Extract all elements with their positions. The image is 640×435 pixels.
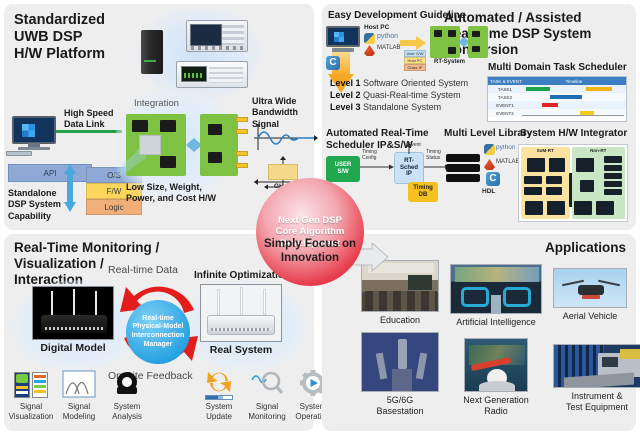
real-system-image — [200, 284, 282, 342]
host-pc-label: Host PC — [364, 24, 389, 31]
app-label-instrument: Instrument & Test Equipment — [566, 391, 628, 412]
timing-config-label: Timing Config — [362, 150, 377, 162]
gantt-label-task2: TASK2 — [488, 93, 522, 101]
panel-a-title: Standardized UWB DSP H/W Platform — [14, 12, 105, 63]
icon-label-signal-modeling: Signal Modeling — [63, 402, 95, 421]
library-python-icon — [484, 144, 495, 155]
icon-label-signal-monitoring: Signal Monitoring — [248, 402, 285, 421]
integrator-nonrt-label: Non-RT — [572, 148, 625, 153]
oscilloscope-screen — [190, 24, 222, 46]
integrator-col-somrt: SoM-RT — [521, 147, 570, 219]
level-1-desc: Software Oriented System — [363, 78, 468, 88]
gantt-bar-task1-b — [586, 87, 612, 91]
app-artificial-intelligence[interactable]: Artificial Intelligence — [448, 264, 544, 328]
library-c-icon: C — [486, 172, 500, 186]
c-language-icon: C — [326, 56, 340, 70]
gantt-row-task1: TASK1 — [488, 85, 626, 93]
gantt-col-time: Timeline — [522, 79, 626, 84]
rt-system-label: RT-System — [434, 59, 465, 65]
easy-development-guideline-title: Easy Development Guideline — [328, 10, 465, 22]
high-speed-data-link-label: High Speed Data Link — [64, 108, 114, 131]
gantt-label-task1: TASK1 — [488, 85, 522, 93]
integrator-col-nonrt: Non-RT — [572, 147, 625, 219]
chart-dashboard-icon — [14, 370, 48, 400]
rt-pcb-left — [430, 26, 460, 58]
radio-image — [464, 338, 528, 392]
library-matlab-icon — [484, 159, 495, 170]
icon-label-system-update: System Update — [206, 402, 233, 421]
level-3-name: Level 3 — [330, 102, 361, 112]
connector-1 — [236, 117, 248, 122]
digital-model-image — [32, 286, 114, 340]
gantt-chart: TASK & EVENT Timeline TASK1 TASK2 EVENT1… — [487, 76, 627, 122]
monitor-screen — [12, 116, 56, 144]
realtime-data-label: Real-time Data — [108, 264, 178, 276]
real-system-caption: Real System — [200, 344, 282, 356]
library-stack-icon — [446, 154, 480, 188]
gantt-axis — [522, 115, 624, 116]
app-label-aerial-vehicle: Aerial Vehicle — [563, 311, 618, 321]
instrument-image — [553, 344, 640, 388]
signal-search-icon — [250, 370, 284, 400]
matlab-label: MATLAB — [377, 45, 401, 51]
curve-plot-icon — [62, 370, 96, 400]
library-matlab-label: MATLAB — [496, 159, 520, 165]
level-1-row: Level 1 Software Oriented System — [330, 78, 468, 88]
gantt-bar-task2 — [550, 95, 582, 99]
level-2-row: Level 2 Quasi-Real-time System — [330, 90, 461, 100]
timing-db-block: Timing DB — [408, 182, 438, 202]
digital-model-caption: Digital Model — [32, 342, 114, 354]
matlab-icon — [364, 45, 375, 56]
library-hdl-label: HDL — [482, 188, 495, 195]
gantt-row-event1: EVENT1 — [488, 101, 626, 109]
python-label: python — [377, 33, 398, 40]
panel-standardized-uwb-dsp: Standardized UWB DSP H/W Platform High S… — [4, 4, 314, 230]
rt-stack-class-ip: Class IP — [404, 64, 426, 71]
oscilloscope-knobs — [191, 46, 245, 50]
magnifier-dark-icon — [110, 370, 144, 400]
integrator-somrt-label: SoM-RT — [521, 148, 570, 153]
rt-stack-host-pc: Host PC — [404, 57, 426, 64]
gantt-row-task2: TASK2 — [488, 93, 626, 101]
icon-label-signal-visualization: Signal Visualization — [9, 402, 54, 421]
level-3-row: Level 3 Standalone System — [330, 102, 441, 112]
hw-integrator-diagram: SoM-RT Non-RT — [518, 144, 628, 222]
standalone-capability-label: Standalone DSP System Capability — [8, 188, 61, 222]
rt-sched-ip-block: RT- Sched IP — [394, 152, 424, 184]
app-label-basestation: 5G/6G Basestation — [376, 395, 423, 416]
gantt-label-event2: EVENT2 — [488, 109, 522, 117]
timing-status-label: Timing Status — [426, 150, 441, 162]
api-box: API — [8, 164, 92, 182]
integration-label: Integration — [134, 98, 179, 109]
guideline-arrow-icon — [400, 36, 426, 50]
analyzer-controls — [209, 67, 243, 83]
high-speed-link-line — [56, 130, 122, 133]
drone-image — [553, 268, 627, 308]
keyboard-icon — [6, 151, 32, 156]
signal-analyzer-icon — [176, 61, 248, 88]
connector-3 — [236, 151, 248, 156]
bidirectional-arrow — [64, 164, 76, 212]
pcb-board-right — [200, 114, 238, 176]
realtime-manager-circle: Real-time Physical-Model Interconnection… — [126, 300, 190, 364]
level-1-name: Level 1 — [330, 78, 361, 88]
icon-signal-modeling[interactable]: Signal Modeling — [56, 370, 102, 421]
auto-scheduler-title: Automated Real-Time Scheduler IP&S/W — [326, 128, 429, 152]
icon-system-update[interactable]: System Update — [196, 370, 242, 421]
connector-4 — [236, 163, 248, 168]
host-pc-icon — [326, 26, 360, 54]
level-2-name: Level 2 — [330, 90, 361, 100]
user-sw-block: USER S/W — [326, 156, 360, 182]
spectrum-band — [268, 164, 298, 180]
analyzer-screen — [181, 66, 207, 82]
level-2-desc: Quasi-Real-time System — [363, 90, 461, 100]
app-aerial-vehicle[interactable]: Aerial Vehicle — [550, 268, 630, 322]
gantt-bar-task1-a — [526, 87, 550, 91]
app-label-ai: Artificial Intelligence — [456, 317, 536, 327]
pcb-zoom-region — [140, 136, 160, 154]
timing-config-arrow — [360, 164, 394, 170]
server-tower-icon — [141, 30, 163, 74]
connector-2 — [236, 129, 248, 134]
gantt-label-event1: EVENT1 — [488, 101, 522, 109]
oscilloscope-icon — [186, 20, 248, 52]
monitor-base — [18, 147, 50, 150]
library-python-label: python — [496, 144, 516, 151]
rt-pcb-right — [468, 26, 488, 58]
simply-focus-text: Simply Focus on Innovation — [248, 238, 372, 266]
refresh-icon — [202, 370, 236, 400]
icon-signal-monitoring[interactable]: Signal Monitoring — [244, 370, 290, 421]
low-size-weight-label: Low Size, Weight, Power, and Cost H/W — [126, 182, 216, 205]
icon-signal-visualization[interactable]: Signal Visualization — [8, 370, 54, 421]
icon-system-analysis[interactable]: System Analysis — [104, 370, 150, 421]
desktop-monitor-icon — [12, 116, 56, 150]
gantt-bar-event1 — [542, 103, 558, 107]
app-next-generation-radio[interactable]: Next Generation Radio — [448, 338, 544, 417]
panel-automated-conversion: Automated / Assisted Real-Time DSP Syste… — [322, 4, 636, 230]
gantt-header: TASK & EVENT Timeline — [488, 77, 626, 85]
hw-integrator-title: System H/W Integrator — [520, 128, 627, 140]
app-label-next-gen-radio: Next Generation Radio — [463, 395, 529, 416]
rt-stack-user-sw: User S/W — [404, 50, 426, 57]
python-icon — [364, 33, 375, 44]
gantt-col-task: TASK & EVENT — [488, 79, 522, 84]
app-5g6g-basestation[interactable]: 5G/6G Basestation — [360, 332, 440, 417]
event-arrow — [406, 142, 412, 154]
oscilloscope-buttons — [222, 25, 244, 45]
level-3-desc: Standalone System — [363, 102, 441, 112]
panel-d-title: Applications — [545, 240, 626, 256]
center-red-circle: Next Gen DSP Core Algorithm Development — [256, 178, 364, 286]
app-instrument-test-equipment[interactable]: Instrument & Test Equipment — [550, 344, 640, 413]
basestation-image — [361, 332, 439, 392]
app-label-education: Education — [380, 315, 420, 325]
ai-image — [450, 264, 542, 314]
icon-label-system-analysis: System Analysis — [112, 402, 142, 421]
sine-waveform-plot — [252, 122, 318, 152]
task-scheduler-title: Multi Domain Task Scheduler — [488, 62, 627, 74]
